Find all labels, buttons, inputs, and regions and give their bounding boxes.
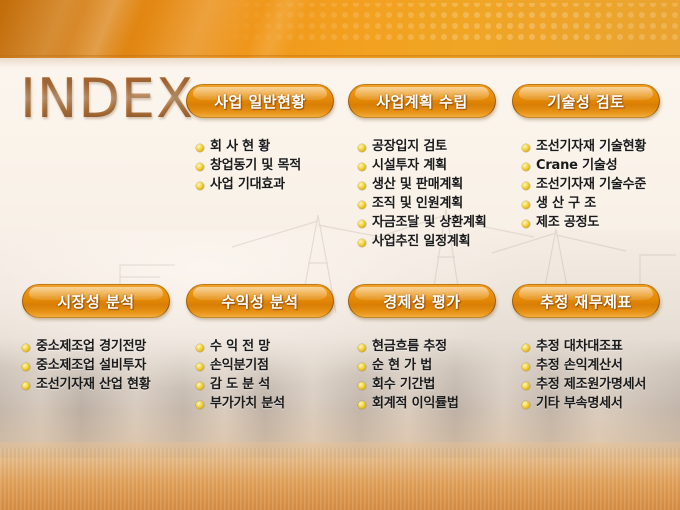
list-item-label: 추정 제조원가명세서 [536,377,646,393]
section-items-economic-evaluation: 현금흐름 추정 순 현 가 법 회수 기간법 회계적 이익률법 [358,339,513,415]
list-item-label: 수 익 전 망 [210,339,270,355]
bullet-icon [196,182,204,190]
list-item-label: 생 산 구 조 [536,196,596,212]
bullet-icon [358,401,366,409]
section-header-label: 시장성 분석 [57,291,134,312]
section-items-market-analysis: 중소제조업 경기전망 중소제조업 설비투자 조선기자재 산업 현황 [22,339,187,396]
list-item-label: 생산 및 판매계획 [372,177,463,193]
bullet-icon [522,363,530,371]
list-item[interactable]: 중소제조업 설비투자 [22,358,187,374]
list-item[interactable]: 생 산 구 조 [522,196,680,212]
list-item[interactable]: 순 현 가 법 [358,358,513,374]
list-item[interactable]: 생산 및 판매계획 [358,177,518,193]
list-item[interactable]: 회계적 이익률법 [358,396,513,412]
list-item-label: 감 도 분 석 [210,377,270,393]
list-item[interactable]: 기타 부속명세서 [522,396,680,412]
list-item[interactable]: 공장입지 검토 [358,139,518,155]
section-items-business-overview: 회 사 현 황 창업동기 및 목적 사업 기대효과 [196,139,346,196]
index-slide: INDEX INDEX 사업 일반현황 회 사 현 황 창업동기 및 목적 사업… [0,0,680,510]
list-item-label: 시설투자 계획 [372,158,447,174]
bullet-icon [196,363,204,371]
section-header-profitability-analysis[interactable]: 수익성 분석 [186,284,334,318]
list-item-label: 기타 부속명세서 [536,396,623,412]
list-item-label: 추정 손익계산서 [536,358,623,374]
section-header-label: 사업계획 수립 [376,91,468,112]
bullet-icon [522,201,530,209]
bullet-icon [358,144,366,152]
list-item-label: 사업 기대효과 [210,177,285,193]
list-item-label: 조선기자재 기술현황 [536,139,646,155]
header-dot-pattern [220,0,680,58]
list-item-label: 사업추진 일정계획 [372,234,470,250]
bullet-icon [358,382,366,390]
bullet-icon [196,144,204,152]
list-item[interactable]: 사업 기대효과 [196,177,346,193]
list-item[interactable]: 중소제조업 경기전망 [22,339,187,355]
list-item[interactable]: 창업동기 및 목적 [196,158,346,174]
list-item-label: 자금조달 및 상환계획 [372,215,487,231]
section-header-business-overview[interactable]: 사업 일반현황 [186,84,334,118]
section-header-label: 사업 일반현황 [214,91,306,112]
list-item[interactable]: 손익분기점 [196,358,346,374]
bullet-icon [358,163,366,171]
list-item[interactable]: 수 익 전 망 [196,339,346,355]
section-header-market-analysis[interactable]: 시장성 분석 [22,284,170,318]
list-item-label: 손익분기점 [210,358,269,374]
section-header-label: 경제성 평가 [383,291,460,312]
list-item-label: 조선기자재 산업 현황 [36,377,151,393]
list-item-label: 회계적 이익률법 [372,396,459,412]
list-item[interactable]: 조직 및 인원계획 [358,196,518,212]
bullet-icon [22,382,30,390]
bullet-icon [358,182,366,190]
bullet-icon [358,239,366,247]
list-item-label: 창업동기 및 목적 [210,158,301,174]
list-item[interactable]: 감 도 분 석 [196,377,346,393]
list-item-label: 조선기자재 기술수준 [536,177,646,193]
bullet-icon [196,344,204,352]
bullet-icon [522,401,530,409]
bullet-icon [522,144,530,152]
list-item-label: Crane 기술성 [536,158,617,174]
list-item-label: 회 사 현 황 [210,139,270,155]
list-item[interactable]: 현금흐름 추정 [358,339,513,355]
bullet-icon [522,220,530,228]
list-item[interactable]: 조선기자재 기술수준 [522,177,680,193]
list-item[interactable]: 제조 공정도 [522,215,680,231]
list-item[interactable]: 추정 제조원가명세서 [522,377,680,393]
list-item-label: 순 현 가 법 [372,358,432,374]
list-item-label: 추정 대차대조표 [536,339,623,355]
list-item[interactable]: 회수 기간법 [358,377,513,393]
bullet-icon [22,363,30,371]
bullet-icon [196,382,204,390]
list-item-label: 공장입지 검토 [372,139,447,155]
section-header-technology-review[interactable]: 기술성 검토 [512,84,660,118]
section-header-label: 수익성 분석 [221,291,298,312]
bullet-icon [358,201,366,209]
section-items-technology-review: 조선기자재 기술현황 Crane 기술성 조선기자재 기술수준 생 산 구 조 … [522,139,680,234]
section-items-profitability-analysis: 수 익 전 망 손익분기점 감 도 분 석 부가가치 분석 [196,339,346,415]
bullet-icon [22,344,30,352]
bullet-icon [196,163,204,171]
page-title: INDEX [20,72,194,126]
bullet-icon [522,382,530,390]
list-item[interactable]: 사업추진 일정계획 [358,234,518,250]
bullet-icon [522,344,530,352]
bullet-icon [522,182,530,190]
photo-waterline-layer [0,442,680,510]
bullet-icon [522,163,530,171]
list-item-label: 현금흐름 추정 [372,339,447,355]
bullet-icon [358,220,366,228]
section-header-business-plan[interactable]: 사업계획 수립 [348,84,496,118]
header-band [0,0,680,58]
bullet-icon [358,363,366,371]
list-item-label: 중소제조업 설비투자 [36,358,146,374]
section-items-estimated-financials: 추정 대차대조표 추정 손익계산서 추정 제조원가명세서 기타 부속명세서 [522,339,680,415]
section-header-economic-evaluation[interactable]: 경제성 평가 [348,284,496,318]
photo-water-texture [0,448,680,510]
list-item[interactable]: Crane 기술성 [522,158,680,174]
bullet-icon [196,401,204,409]
list-item[interactable]: 시설투자 계획 [358,158,518,174]
section-header-label: 추정 재무제표 [540,291,632,312]
list-item[interactable]: 조선기자재 기술현황 [522,139,680,155]
list-item[interactable]: 부가가치 분석 [196,396,346,412]
section-header-label: 기술성 검토 [547,91,624,112]
list-item[interactable]: 자금조달 및 상환계획 [358,215,518,231]
list-item-label: 조직 및 인원계획 [372,196,463,212]
section-header-estimated-financials[interactable]: 추정 재무제표 [512,284,660,318]
list-item-label: 회수 기간법 [372,377,435,393]
list-item[interactable]: 추정 대차대조표 [522,339,680,355]
list-item-label: 부가가치 분석 [210,396,285,412]
list-item[interactable]: 조선기자재 산업 현황 [22,377,187,393]
section-items-business-plan: 공장입지 검토 시설투자 계획 생산 및 판매계획 조직 및 인원계획 자금조달… [358,139,518,253]
list-item-label: 제조 공정도 [536,215,599,231]
list-item[interactable]: 추정 손익계산서 [522,358,680,374]
list-item[interactable]: 회 사 현 황 [196,139,346,155]
list-item-label: 중소제조업 경기전망 [36,339,146,355]
bullet-icon [358,344,366,352]
